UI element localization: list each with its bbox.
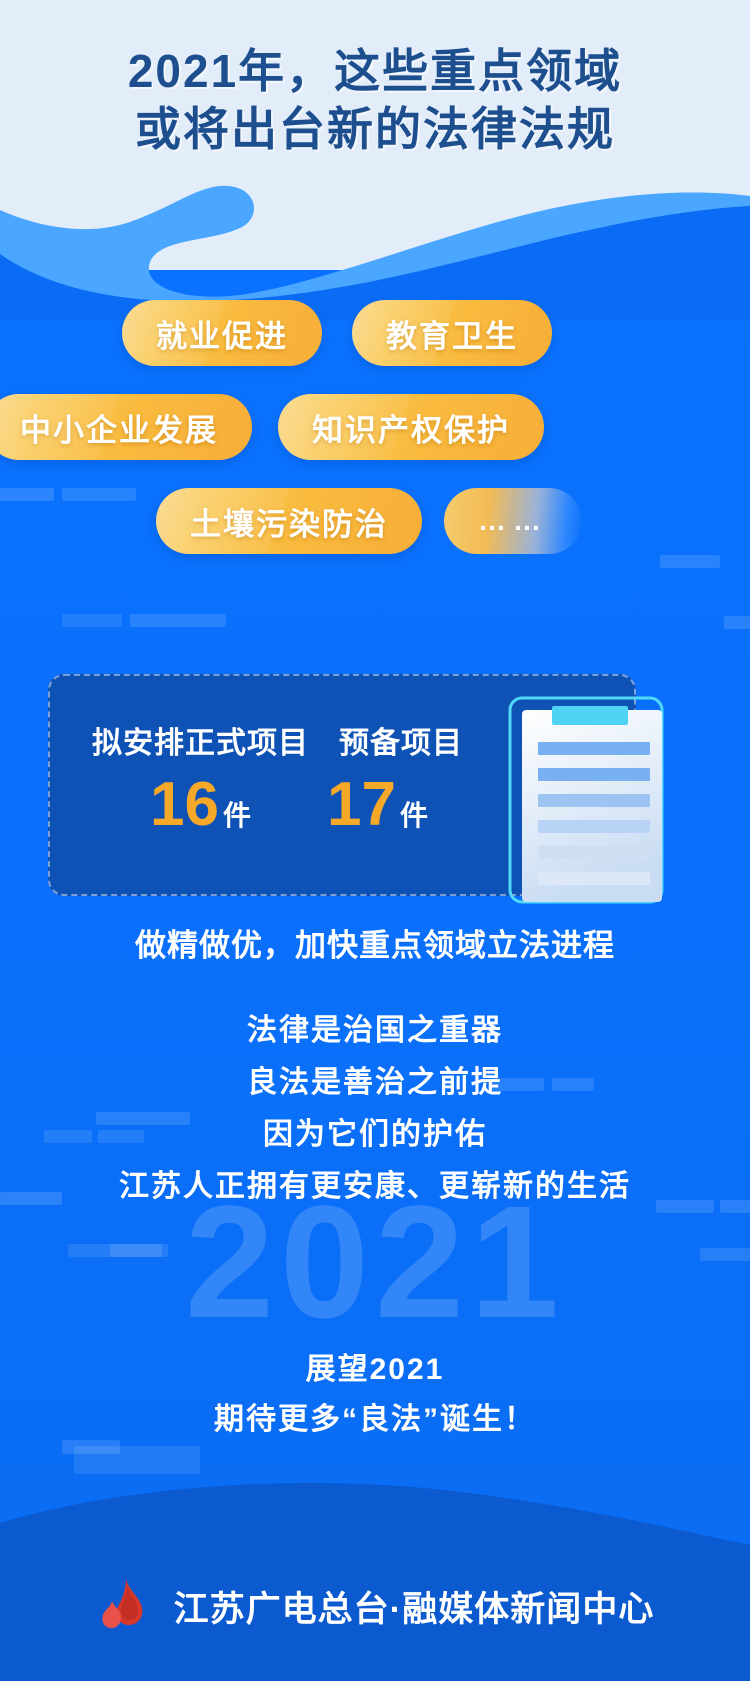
closing-block: 展望2021 期待更多“良法”诞生！ [0,1345,750,1445]
closing-line: 展望2021 [0,1345,750,1395]
pill-sme-development[interactable]: 中小企业发展 [0,394,252,460]
clipboard-icon [506,694,666,906]
pill-label: 知识产权保护 [312,405,510,450]
footer-brand-bar: 江苏广电总台·融媒体新闻中心 [0,1531,750,1681]
stat-reserve: 17 件 [327,774,428,836]
stat-formal: 16 件 [150,774,251,836]
stat-unit-formal: 件 [223,794,251,834]
pill-label: 土壤污染防治 [190,499,388,544]
footer-brand-text: 江苏广电总台·融媒体新闻中心 [174,1581,655,1632]
pill-employment[interactable]: 就业促进 [122,300,322,366]
stat-unit-reserve: 件 [400,794,428,834]
page-title: 2021年，这些重点领域 或将出台新的法律法规 [0,42,750,158]
pill-label: …… [478,505,548,537]
verse-line: 良法是善治之前提 [0,1057,750,1109]
infographic-poster: 2021年，这些重点领域 或将出台新的法律法规 就业促进 教育卫生 [0,0,750,1681]
pill-ip-protection[interactable]: 知识产权保护 [278,394,544,460]
stat-label-formal: 拟安排正式项目 [92,718,309,762]
pill-label: 就业促进 [156,311,288,356]
stat-label-reserve: 预备项目 [339,718,463,762]
pill-label: 中小企业发展 [20,405,218,450]
stats-card-body: 拟安排正式项目 预备项目 16 件 17 件 [50,676,634,894]
stats-card: 拟安排正式项目 预备项目 16 件 17 件 [48,674,636,896]
pill-education-health[interactable]: 教育卫生 [352,300,552,366]
jiangsu-broadcast-flame-logo-icon [96,1575,158,1637]
pill-label: 教育卫生 [386,311,518,356]
section-headline: 做精做优，加快重点领域立法进程 [0,920,750,965]
deco-bar [62,614,122,627]
deco-bar [130,614,226,627]
verse-line: 法律是治国之重器 [0,1005,750,1057]
title-line-2: 或将出台新的法律法规 [0,100,750,158]
stat-value-formal: 16 [150,774,219,836]
pill-more-ellipsis[interactable]: …… [444,488,582,554]
pill-soil-pollution[interactable]: 土壤污染防治 [156,488,422,554]
title-line-1: 2021年，这些重点领域 [0,42,750,100]
pill-row-2: 中小企业发展 知识产权保护 [0,394,750,460]
verse-block: 法律是治国之重器 良法是善治之前提 因为它们的护佑 江苏人正拥有更安康、更崭新的… [0,1005,750,1213]
topic-pill-group: 就业促进 教育卫生 中小企业发展 知识产权保护 土壤污染防治 …… [0,300,750,582]
stat-value-reserve: 17 [327,774,396,836]
deco-bar [724,616,750,629]
pill-row-3: 土壤污染防治 …… [0,488,750,554]
closing-line: 期待更多“良法”诞生！ [0,1395,750,1445]
verse-line: 江苏人正拥有更安康、更崭新的生活 [0,1161,750,1213]
wave-divider-icon [0,150,750,320]
pill-row-1: 就业促进 教育卫生 [0,300,750,366]
deco-bar [74,1446,200,1474]
verse-line: 因为它们的护佑 [0,1109,750,1161]
